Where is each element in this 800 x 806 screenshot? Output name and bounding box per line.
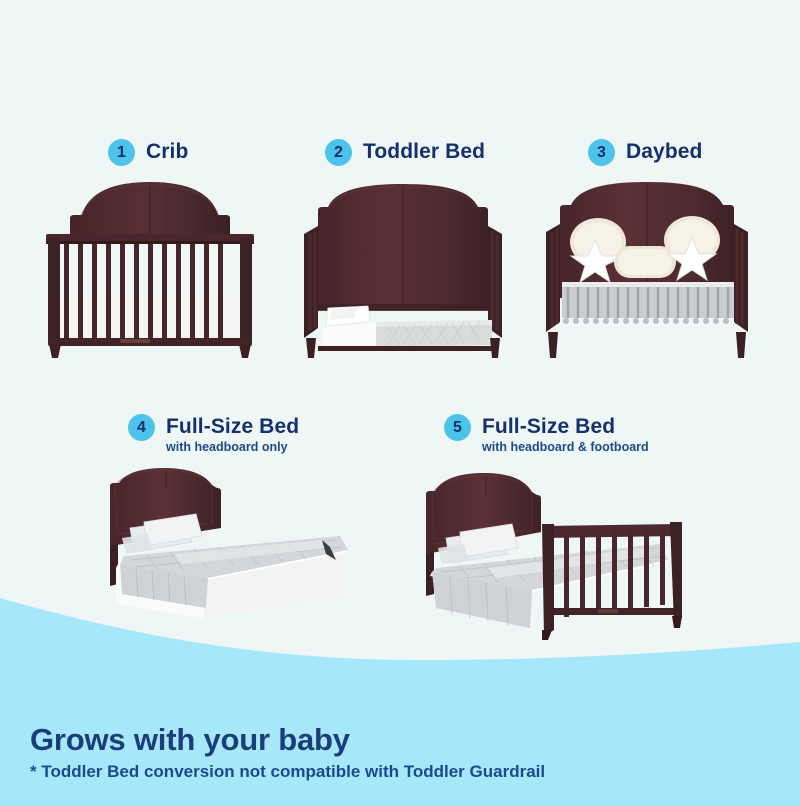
footer-headline: Grows with your baby	[30, 722, 350, 758]
title-step-1: Crib	[146, 140, 188, 164]
badge-step-1: 1	[108, 139, 135, 166]
label-step-1: 1 Crib	[108, 139, 188, 166]
label-step-5: 5 Full-Size Bed with headboard & footboa…	[444, 414, 649, 454]
title-step-2: Toddler Bed	[363, 140, 485, 164]
badge-step-3: 3	[588, 139, 615, 166]
figure-full-size-bed-headboard-footboard	[412, 468, 704, 640]
title-step-3: Daybed	[626, 140, 702, 164]
label-step-4: 4 Full-Size Bed with headboard only	[128, 414, 299, 454]
title-step-4: Full-Size Bed	[166, 415, 299, 439]
figure-crib	[34, 178, 266, 358]
title-step-5: Full-Size Bed	[482, 415, 649, 439]
subtitle-step-4: with headboard only	[166, 440, 299, 454]
badge-step-5: 5	[444, 414, 471, 441]
figure-daybed	[540, 180, 758, 358]
label-step-3: 3 Daybed	[588, 139, 702, 166]
footer-disclaimer: * Toddler Bed conversion not compatible …	[30, 762, 545, 782]
subtitle-step-5: with headboard & footboard	[482, 440, 649, 454]
label-step-2: 2 Toddler Bed	[325, 139, 485, 166]
badge-step-2: 2	[325, 139, 352, 166]
figure-toddler-bed	[296, 182, 510, 358]
badge-step-4: 4	[128, 414, 155, 441]
infographic-canvas: 1 Crib 2 Toddler Bed 3 Daybed 4 Full-Siz…	[0, 0, 800, 806]
figure-full-size-bed-headboard	[86, 468, 378, 626]
